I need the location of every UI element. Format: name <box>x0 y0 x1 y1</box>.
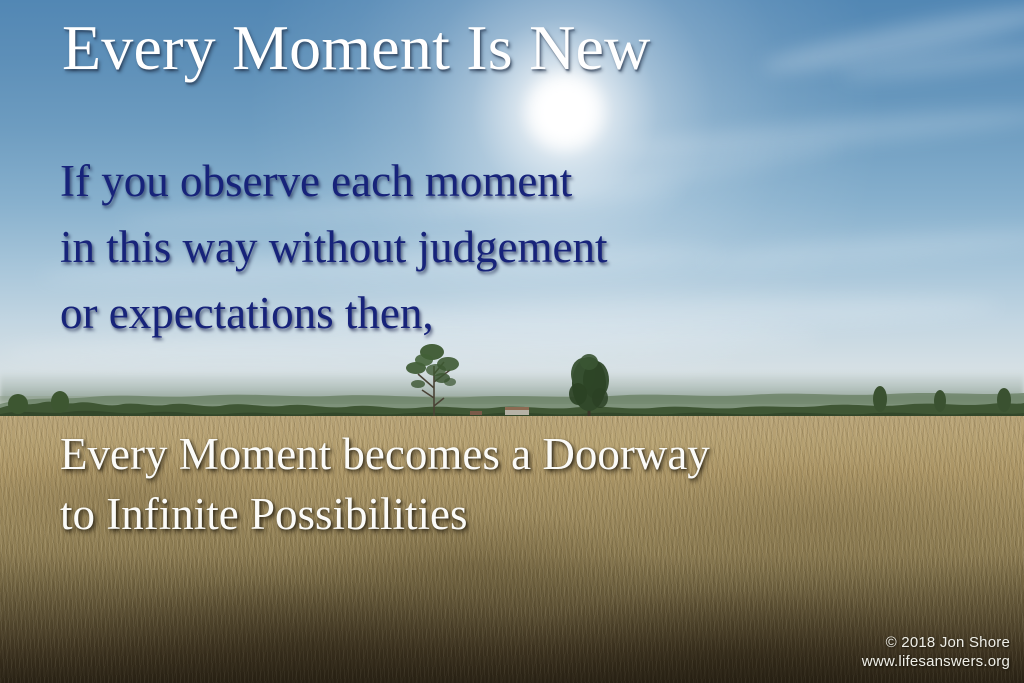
broadleaf-tree-icon <box>556 350 626 422</box>
copyright-line: © 2018 Jon Shore <box>862 633 1010 652</box>
conclusion-line: to Infinite Possibilities <box>60 484 1000 544</box>
cirrus-cloud <box>840 38 1024 86</box>
conclusion-text: Every Moment becomes a Doorway to Infini… <box>60 424 1000 544</box>
sun-icon <box>525 72 605 152</box>
page-title: Every Moment Is New <box>62 16 651 80</box>
quote-line: in this way without judgement <box>60 214 940 280</box>
quote-text: If you observe each moment in this way w… <box>60 148 940 346</box>
website-line[interactable]: www.lifesanswers.org <box>862 652 1010 671</box>
quote-poster: Every Moment Is New If you observe each … <box>0 0 1024 683</box>
conclusion-line: Every Moment becomes a Doorway <box>60 424 1000 484</box>
quote-line: If you observe each moment <box>60 148 940 214</box>
quote-line: or expectations then, <box>60 280 940 346</box>
birch-tree-icon <box>392 336 478 422</box>
cirrus-cloud <box>760 0 1024 82</box>
credit-block: © 2018 Jon Shore www.lifesanswers.org <box>862 633 1010 671</box>
